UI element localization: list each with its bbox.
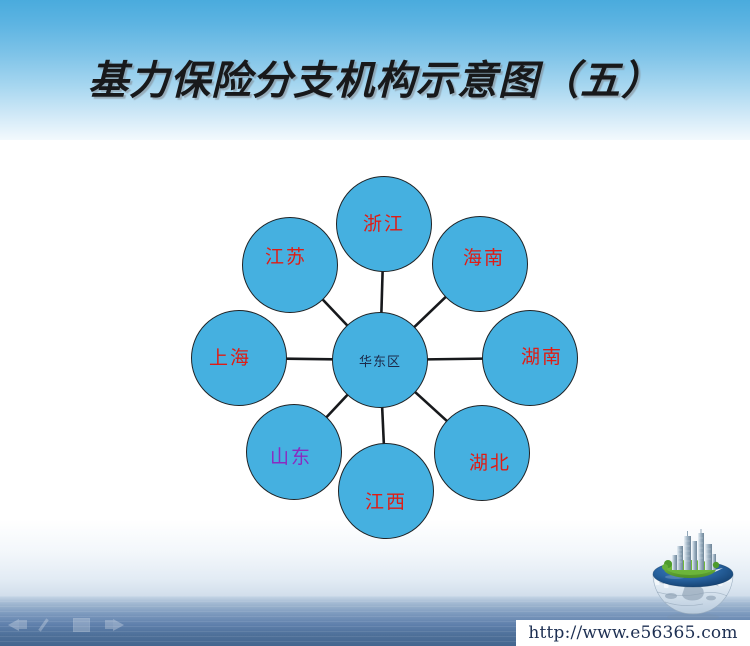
node-label: 山东	[270, 442, 312, 469]
website-url-bar: http://www.e56365.com	[516, 620, 750, 646]
diagram-node-6[interactable]: 上海	[191, 310, 287, 406]
spoke-line	[381, 271, 382, 313]
arrow-left-icon[interactable]	[8, 617, 28, 632]
diagram-node-5[interactable]: 山东	[246, 404, 342, 500]
diagram-node-0[interactable]: 浙江	[336, 176, 432, 272]
node-label: 华东区	[359, 351, 401, 370]
org-chart-diagram: 浙江海南湖南湖北江西山东上海江苏华东区	[180, 165, 580, 540]
pen-icon[interactable]	[40, 617, 60, 632]
spoke-line	[322, 299, 347, 326]
spoke-line	[286, 359, 333, 360]
spoke-line	[414, 297, 446, 328]
diagram-center-node[interactable]: 华东区	[332, 312, 428, 408]
node-label: 上海	[209, 343, 251, 370]
menu-icon[interactable]	[72, 617, 92, 632]
spoke-line	[427, 359, 483, 360]
diagram-node-3[interactable]: 湖北	[434, 405, 530, 501]
spoke-line	[415, 392, 448, 422]
node-label: 海南	[463, 243, 505, 270]
diagram-node-4[interactable]: 江西	[338, 443, 434, 539]
diagram-node-2[interactable]: 湖南	[482, 310, 578, 406]
earth-city-globe-logo	[645, 524, 741, 624]
website-url[interactable]: http://www.e56365.com	[528, 623, 737, 643]
arrow-right-icon[interactable]	[104, 617, 124, 632]
page-title: 基力保险分支机构示意图（五）	[0, 59, 750, 104]
diagram-node-7[interactable]: 江苏	[242, 217, 338, 313]
node-label: 湖南	[521, 342, 563, 369]
spoke-line	[382, 407, 384, 444]
node-label: 江西	[365, 487, 407, 514]
spoke-line	[326, 394, 348, 417]
slideshow-controls	[8, 612, 168, 636]
node-label: 湖北	[469, 448, 511, 475]
node-label: 浙江	[363, 209, 405, 236]
presentation-slide: 基力保险分支机构示意图（五） 浙江海南湖南湖北江西山东上海江苏华东区	[0, 0, 750, 646]
node-label: 江苏	[265, 242, 307, 269]
diagram-node-1[interactable]: 海南	[432, 216, 528, 312]
